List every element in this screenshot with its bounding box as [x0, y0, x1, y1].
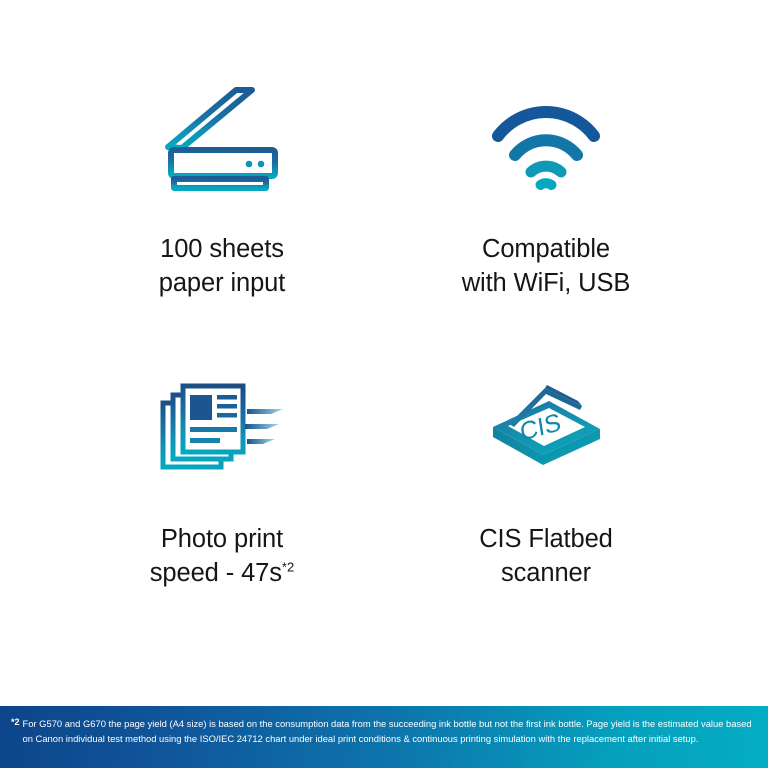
- cis-flatbed-scanner-icon: CIS: [483, 368, 609, 494]
- footnote-body: *2 For G570 and G670 the page yield (A4 …: [11, 717, 752, 747]
- caption-line-1: Compatible: [462, 232, 631, 266]
- wifi-icon: [484, 72, 608, 204]
- feature-caption: CIS Flatbed scanner: [479, 522, 613, 590]
- feature-paper-input: 100 sheets paper input: [60, 72, 384, 368]
- caption-line-2-text: speed - 47s: [150, 559, 282, 587]
- caption-line-1: CIS Flatbed: [479, 522, 613, 556]
- feature-highlights-page: 100 sheets paper input Compatible with W: [0, 0, 768, 768]
- footnote-bar: *2 For G570 and G670 the page yield (A4 …: [0, 706, 768, 768]
- feature-grid: 100 sheets paper input Compatible with W: [0, 0, 768, 706]
- caption-line-1: Photo print: [150, 522, 294, 556]
- feature-cis-scanner: CIS CIS Flatbed scanner: [384, 368, 708, 664]
- feature-connectivity: Compatible with WiFi, USB: [384, 72, 708, 368]
- fast-documents-icon: [159, 368, 285, 494]
- footnote-mark: *2: [11, 717, 20, 727]
- flatbed-scanner-open-lid-icon: [160, 72, 284, 204]
- caption-line-2: scanner: [479, 556, 613, 590]
- feature-caption: 100 sheets paper input: [159, 232, 286, 300]
- caption-line-2: paper input: [159, 266, 286, 300]
- footnote-text: For G570 and G670 the page yield (A4 siz…: [23, 717, 752, 747]
- caption-line-2: speed - 47s*2: [150, 556, 294, 590]
- feature-caption: Photo print speed - 47s*2: [150, 522, 294, 590]
- caption-footnote-mark: *2: [282, 560, 294, 575]
- feature-photo-print-speed: Photo print speed - 47s*2: [60, 368, 384, 664]
- feature-caption: Compatible with WiFi, USB: [462, 232, 631, 300]
- caption-line-1: 100 sheets: [159, 232, 286, 266]
- caption-line-2: with WiFi, USB: [462, 266, 631, 300]
